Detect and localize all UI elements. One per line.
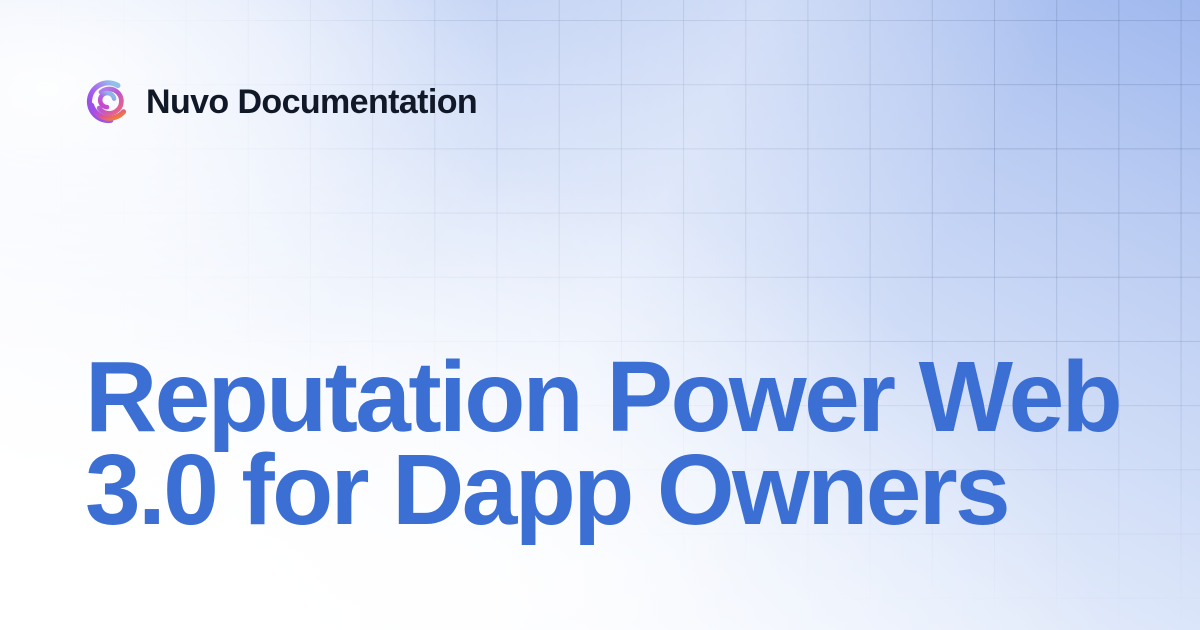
brand-lockup: Nuvo Documentation	[85, 78, 477, 125]
brand-name: Nuvo Documentation	[146, 85, 477, 119]
page-title-line-2: 3.0 for Dapp Owners	[85, 444, 1125, 537]
page-title: Reputation Power Web 3.0 for Dapp Owners	[85, 351, 1125, 537]
nuvo-spiral-logo-icon	[85, 78, 132, 125]
og-card: Nuvo Documentation Reputation Power Web …	[0, 0, 1200, 630]
page-title-line-1: Reputation Power Web	[85, 351, 1125, 444]
